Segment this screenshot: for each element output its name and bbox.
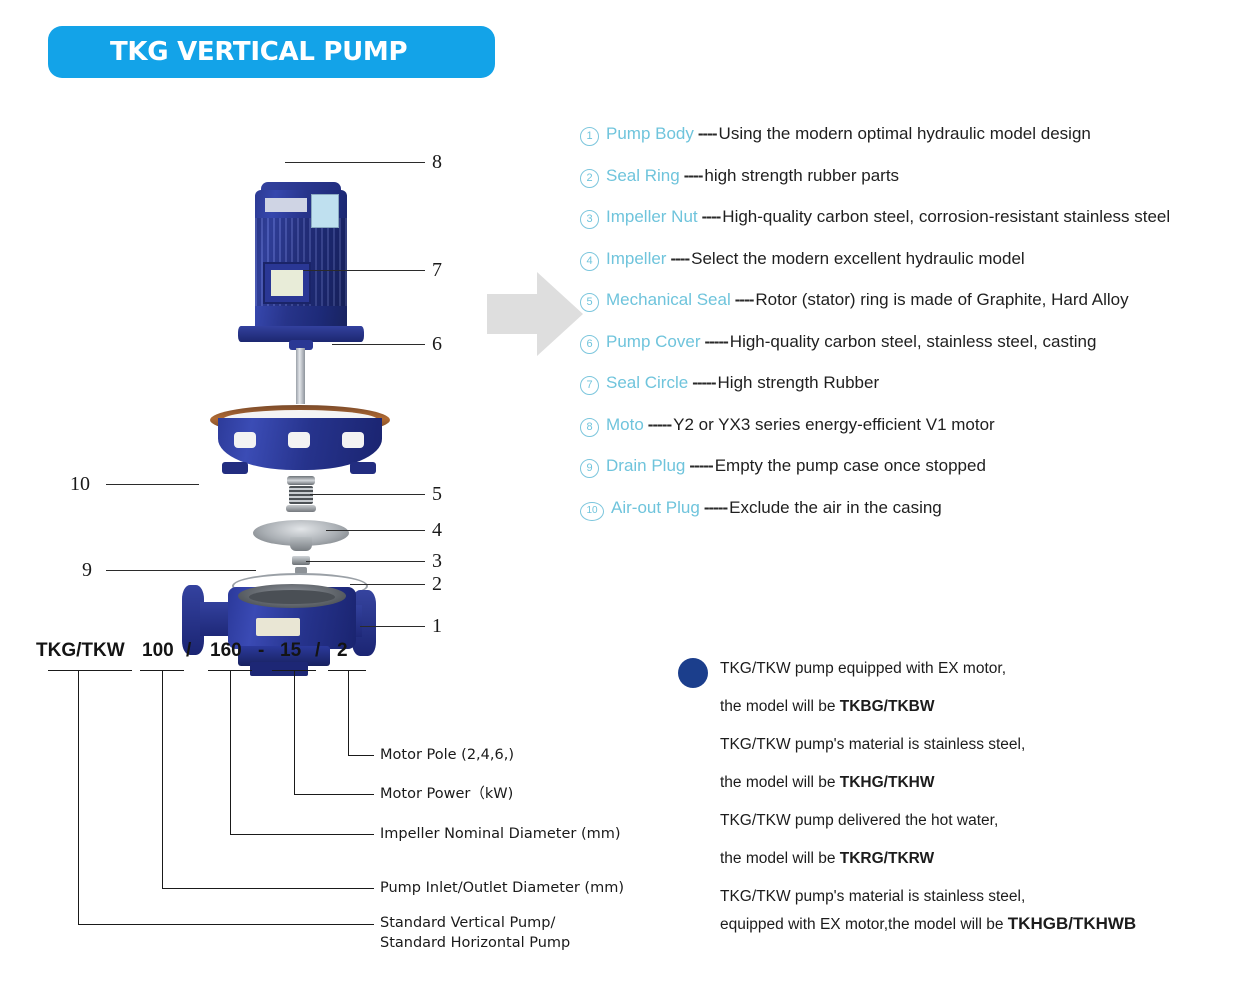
bullet-icon xyxy=(678,658,708,688)
callout-number-7: 7 xyxy=(432,260,442,280)
legend-item-3: 3 Impeller Nut ---- High-quality carbon … xyxy=(580,207,1230,249)
callout-number-9: 9 xyxy=(82,560,92,580)
cover-window-right xyxy=(342,432,364,448)
legend-number-icon: 9 xyxy=(580,459,599,478)
leader-vertical-inlet xyxy=(162,670,163,888)
legend-item-6: 6 Pump Cover ----- High-quality carbon s… xyxy=(580,332,1230,374)
legend-part-name: Seal Circle xyxy=(606,373,688,393)
pump-type-line-2: Standard Horizontal Pump xyxy=(380,935,570,951)
segment-underline-series xyxy=(48,670,132,671)
cover-window-left xyxy=(234,432,256,448)
legend-number-icon: 1 xyxy=(580,127,599,146)
note-line-5: TKG/TKW pump delivered the hot water, xyxy=(720,812,998,830)
cover-foot-left xyxy=(222,462,248,474)
note-model-code: TKBG/TKBW xyxy=(840,698,935,715)
leader-label-motor-pole: Motor Pole (2,4,6,) xyxy=(380,746,514,766)
legend-dash: ----- xyxy=(692,373,715,393)
callout-line-9 xyxy=(106,570,256,571)
note-text: the model will be xyxy=(720,774,840,791)
motor-body xyxy=(255,190,347,330)
legend-dash: ----- xyxy=(689,456,712,476)
note-text: TKG/TKW pump's material is stainless ste… xyxy=(720,736,1025,753)
leader-label-inlet-diameter: Pump Inlet/Outlet Diameter (mm) xyxy=(380,879,624,899)
note-line-1: TKG/TKW pump equipped with EX motor, xyxy=(720,660,1006,678)
callout-line-6 xyxy=(332,344,425,345)
impeller-hub xyxy=(290,537,312,551)
model-separator-1: / xyxy=(186,640,191,662)
legend-part-name: Pump Cover xyxy=(606,332,700,352)
callout-number-5: 5 xyxy=(432,484,442,504)
callout-line-2 xyxy=(350,584,425,585)
leader-vertical-power xyxy=(294,670,295,794)
legend-item-8: 8 Moto ----- Y2 or YX3 series energy-eff… xyxy=(580,415,1230,457)
note-text: the model will be xyxy=(720,850,840,867)
legend-dash: ---- xyxy=(684,166,703,186)
page-title: TKG VERTICAL PUMP xyxy=(48,37,407,67)
seal-washer-bottom xyxy=(286,505,316,512)
legend-dash: ---- xyxy=(702,207,721,227)
pump-body-bore xyxy=(249,590,335,604)
page-title-banner: TKG VERTICAL PUMP xyxy=(48,26,495,78)
legend-part-name: Mechanical Seal xyxy=(606,290,731,310)
legend-description: high strength rubber parts xyxy=(704,166,899,186)
legend-part-name: Drain Plug xyxy=(606,456,685,476)
legend-number-icon: 4 xyxy=(580,252,599,271)
legend-description: Select the modern excellent hydraulic mo… xyxy=(691,249,1025,269)
legend-dash: ----- xyxy=(648,415,671,435)
leader-label-motor-power: Motor Power（kW) xyxy=(380,785,513,805)
legend-item-9: 9 Drain Plug ----- Empty the pump case o… xyxy=(580,456,1230,498)
callout-line-4 xyxy=(326,530,425,531)
legend-dash: ---- xyxy=(670,249,689,269)
model-nomenclature: TKG/TKW 100 / 160 - 15 / 2 Motor Pole (2… xyxy=(30,630,610,970)
cover-foot-right xyxy=(350,462,376,474)
leader-horizontal-impeller xyxy=(230,834,374,835)
cover-window-center xyxy=(288,432,310,448)
note-text: TKG/TKW pump delivered the hot water, xyxy=(720,812,998,829)
note-line-3: TKG/TKW pump's material is stainless ste… xyxy=(720,736,1025,754)
callout-number-3: 3 xyxy=(432,551,442,571)
callout-number-4: 4 xyxy=(432,520,442,540)
legend-number-icon: 8 xyxy=(580,418,599,437)
callout-line-10 xyxy=(106,484,199,485)
model-segment-impeller: 160 xyxy=(210,640,242,662)
leader-vertical-series xyxy=(78,670,79,924)
callout-number-6: 6 xyxy=(432,334,442,354)
seal-washer-top xyxy=(287,476,315,485)
note-model-code: TKHG/TKHW xyxy=(840,774,935,791)
legend-item-4: 4 Impeller ---- Select the modern excell… xyxy=(580,249,1230,291)
flow-arrow-icon xyxy=(487,268,583,360)
legend-part-name: Pump Body xyxy=(606,124,694,144)
motor-label-sticker xyxy=(311,194,339,228)
leader-vertical-impeller xyxy=(230,670,231,834)
parts-legend: 1 Pump Body ---- Using the modern optima… xyxy=(580,124,1230,539)
legend-part-name: Moto xyxy=(606,415,644,435)
note-model-code: TKRG/TKRW xyxy=(840,850,934,867)
legend-description: Exclude the air in the casing xyxy=(729,498,942,518)
exploded-pump-diagram: 8 7 6 5 4 3 2 1 10 9 xyxy=(60,90,480,600)
legend-description: High-quality carbon steel, corrosion-res… xyxy=(722,207,1170,227)
legend-dash: ---- xyxy=(735,290,754,310)
model-segment-inlet: 100 xyxy=(142,640,174,662)
note-line-2: the model will be TKBG/TKBW xyxy=(720,698,934,716)
legend-part-name: Impeller Nut xyxy=(606,207,698,227)
legend-number-icon: 7 xyxy=(580,376,599,395)
leader-label-pump-type: Standard Vertical Pump/ Standard Horizon… xyxy=(380,914,570,953)
legend-number-icon: 2 xyxy=(580,169,599,188)
legend-item-7: 7 Seal Circle ----- High strength Rubber xyxy=(580,373,1230,415)
legend-number-icon: 10 xyxy=(580,502,604,521)
note-text: equipped with EX motor,the model will be xyxy=(720,916,1008,933)
legend-item-2: 2 Seal Ring ---- high strength rubber pa… xyxy=(580,166,1230,208)
legend-item-5: 5 Mechanical Seal ---- Rotor (stator) ri… xyxy=(580,290,1230,332)
model-segment-pole: 2 xyxy=(337,640,348,662)
model-separator-3: / xyxy=(315,640,320,662)
callout-line-5 xyxy=(310,494,425,495)
legend-item-10: 10 Air-out Plug ----- Exclude the air in… xyxy=(580,498,1230,540)
leader-horizontal-inlet xyxy=(162,888,374,889)
pump-shaft xyxy=(296,348,305,404)
model-segment-power: 15 xyxy=(280,640,301,662)
terminal-box-cover xyxy=(271,270,303,296)
legend-description: High strength Rubber xyxy=(718,373,880,393)
leader-horizontal-series xyxy=(78,924,374,925)
legend-description: Using the modern optimal hydraulic model… xyxy=(719,124,1091,144)
motor-nameplate xyxy=(265,198,307,212)
motor-terminal-box xyxy=(263,262,311,304)
note-line-8: equipped with EX motor,the model will be… xyxy=(720,914,1136,934)
callout-line-3 xyxy=(306,561,425,562)
segment-underline-pole xyxy=(328,670,366,671)
note-text: TKG/TKW pump's material is stainless ste… xyxy=(720,888,1025,905)
pump-type-line-1: Standard Vertical Pump/ xyxy=(380,915,555,931)
leader-vertical-pole xyxy=(348,670,349,755)
legend-description: Empty the pump case once stopped xyxy=(715,456,986,476)
note-line-4: the model will be TKHG/TKHW xyxy=(720,774,934,792)
model-segment-series: TKG/TKW xyxy=(36,640,125,662)
legend-number-icon: 5 xyxy=(580,293,599,312)
callout-line-7 xyxy=(303,270,425,271)
callout-number-8: 8 xyxy=(432,152,442,172)
note-text: the model will be xyxy=(720,698,840,715)
note-line-7: TKG/TKW pump's material is stainless ste… xyxy=(720,888,1025,906)
callout-line-1 xyxy=(360,626,425,627)
note-model-code: TKHGB/TKHWB xyxy=(1008,914,1136,933)
legend-number-icon: 3 xyxy=(580,210,599,229)
legend-part-name: Seal Ring xyxy=(606,166,680,186)
legend-item-1: 1 Pump Body ---- Using the modern optima… xyxy=(580,124,1230,166)
leader-label-impeller-diameter: Impeller Nominal Diameter (mm) xyxy=(380,825,621,845)
legend-part-name: Air-out Plug xyxy=(611,498,700,518)
legend-number-icon: 6 xyxy=(580,335,599,354)
legend-part-name: Impeller xyxy=(606,249,666,269)
legend-description: Rotor (stator) ring is made of Graphite,… xyxy=(755,290,1128,310)
leader-horizontal-pole xyxy=(348,755,374,756)
note-line-6: the model will be TKRG/TKRW xyxy=(720,850,934,868)
leader-horizontal-power xyxy=(294,794,374,795)
callout-number-2: 2 xyxy=(432,574,442,594)
pump-cover-body xyxy=(218,418,382,470)
model-separator-2: - xyxy=(258,640,264,662)
mechanical-seal xyxy=(289,486,313,504)
legend-dash: ---- xyxy=(698,124,717,144)
legend-dash: ----- xyxy=(704,498,727,518)
legend-description: Y2 or YX3 series energy-efficient V1 mot… xyxy=(673,415,995,435)
legend-description: High-quality carbon steel, stainless ste… xyxy=(730,332,1097,352)
legend-dash: ----- xyxy=(704,332,727,352)
note-text: TKG/TKW pump equipped with EX motor, xyxy=(720,660,1006,677)
callout-number-10: 10 xyxy=(70,474,90,494)
callout-line-8 xyxy=(285,162,425,163)
